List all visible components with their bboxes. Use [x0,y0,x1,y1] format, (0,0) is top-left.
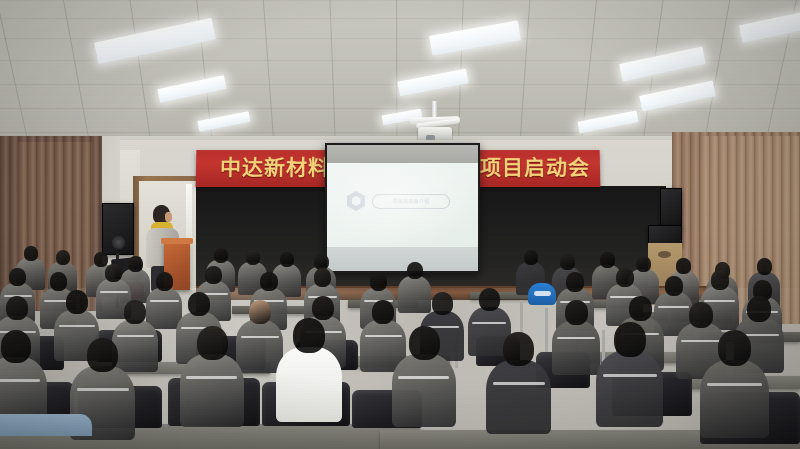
audience-head [711,270,729,290]
audience-head [1,330,31,363]
audience-head [503,332,534,366]
audience-torso [700,360,769,438]
audience-head [280,252,294,267]
hexagon-badge-inner-icon [352,196,361,206]
uniform-stripe [59,325,95,327]
audience-head [6,296,28,320]
audience-head [409,326,440,360]
audience-head [614,322,646,357]
cabinet-handle-icon [658,251,671,258]
uniform-stripe [557,337,595,339]
audience-head [718,330,751,366]
audience-head [370,272,387,291]
audience-head [249,300,271,324]
audience-head [188,292,210,316]
uniform-stripe [150,300,179,302]
audience-head [87,338,118,372]
audience-head [665,276,683,296]
audience-head [293,318,325,353]
uniform-stripe [0,379,40,382]
blue-backpack-logo [534,291,551,296]
audience-torso [392,354,456,427]
audience-torso [486,360,551,434]
audience-head [246,250,260,265]
audience-head [124,300,146,324]
uniform-stripe [100,291,128,293]
audience-head [50,272,67,291]
audience-head [56,250,70,265]
ceiling-projector [404,101,466,145]
audience-head [565,300,588,325]
pa-speaker-left [102,203,134,255]
audience-torso [236,320,283,373]
uniform-stripe [117,335,154,337]
audience-head [105,264,122,282]
podium-top [161,238,193,244]
slide-title-pill: 项目启动会介绍 [372,194,450,209]
desk-leg-2 [545,308,548,352]
audience-torso [398,276,431,313]
hexagon-badge-icon [347,191,365,211]
audience-head [407,262,423,279]
uniform-stripe [365,335,402,337]
audience-head [629,296,652,321]
ceiling [0,0,800,152]
speaker-cone-icon [112,236,125,249]
projection-screen: 项目启动会介绍 [325,143,480,273]
audience-head [260,272,278,291]
audience-head [636,256,651,272]
front-table-blue-object [0,414,92,436]
audience-head [128,256,143,272]
uniform-stripe [77,388,129,391]
audience-torso [552,321,600,375]
pa-speaker-right-lower [648,225,682,245]
audience-torso [112,320,158,372]
uniform-stripe [472,322,506,324]
presenter-face [165,212,172,222]
audience-head [312,296,334,320]
audience-head [94,252,108,267]
uniform-stripe [658,306,689,308]
uniform-stripe [241,336,279,338]
audience-head [616,268,634,287]
audience-head [676,258,691,274]
audience-torso [180,354,244,427]
audience-torso [596,351,663,427]
uniform-stripe [603,374,657,377]
uniform-stripe [493,382,545,385]
audience-torso [146,288,182,329]
audience-head [524,250,538,265]
blue-backpack [528,283,556,305]
audience-head [214,248,228,263]
audience-head [9,268,26,286]
uniform-stripe [681,340,721,342]
banner-text-left: 中达新材料 [220,150,330,187]
audience-head [560,254,575,270]
audience-head [66,290,88,314]
audience-head [757,258,772,275]
audience-head [24,246,38,261]
audience-head [197,326,228,360]
uniform-stripe [707,383,762,386]
audience-head [205,266,222,284]
meeting-room-photo: 中达新材料 项目启动会 项目启动会介绍 [0,0,800,449]
slide-content: 项目启动会介绍 [347,191,450,211]
audience-head [156,272,173,291]
audience-head [566,272,584,292]
banner-text-right: 项目启动会 [480,150,591,187]
uniform-stripe [186,376,237,379]
uniform-stripe [704,300,735,302]
uniform-stripe [398,376,449,379]
pa-speaker-right [660,188,682,228]
screen-bottom-band [327,247,478,271]
audience-head [314,268,331,287]
audience-head [432,292,453,315]
screen-top-band [327,145,478,163]
audience-head [747,296,771,322]
audience-head [479,288,500,311]
audience-head [600,252,615,268]
ceiling-tile-grid [0,0,800,152]
audience-head [689,302,713,328]
audience-torso [276,347,342,422]
audience-head [372,300,394,324]
